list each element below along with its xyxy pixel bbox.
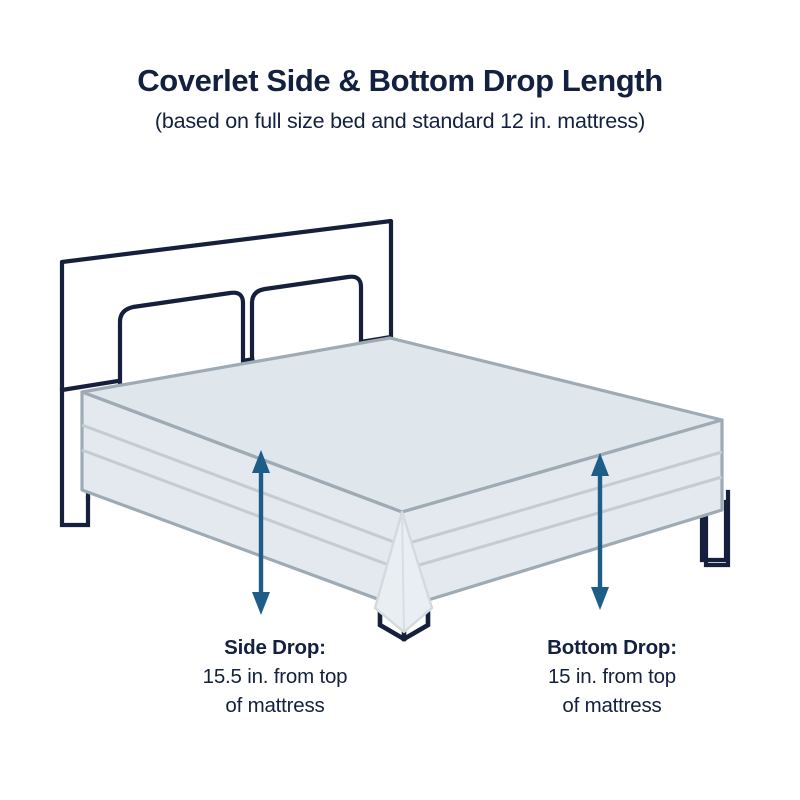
callout-bottom-drop-title: Bottom Drop: [477,633,747,662]
infographic-canvas: Coverlet Side & Bottom Drop Length (base… [0,0,800,800]
callout-side-drop: Side Drop: 15.5 in. from top of mattress [140,633,410,720]
callout-side-drop-line1: 15.5 in. from top [140,662,410,691]
callout-side-drop-line2: of mattress [140,691,410,720]
callout-bottom-drop-line1: 15 in. from top [477,662,747,691]
callout-side-drop-title: Side Drop: [140,633,410,662]
callout-bottom-drop-line2: of mattress [477,691,747,720]
callout-bottom-drop: Bottom Drop: 15 in. from top of mattress [477,633,747,720]
